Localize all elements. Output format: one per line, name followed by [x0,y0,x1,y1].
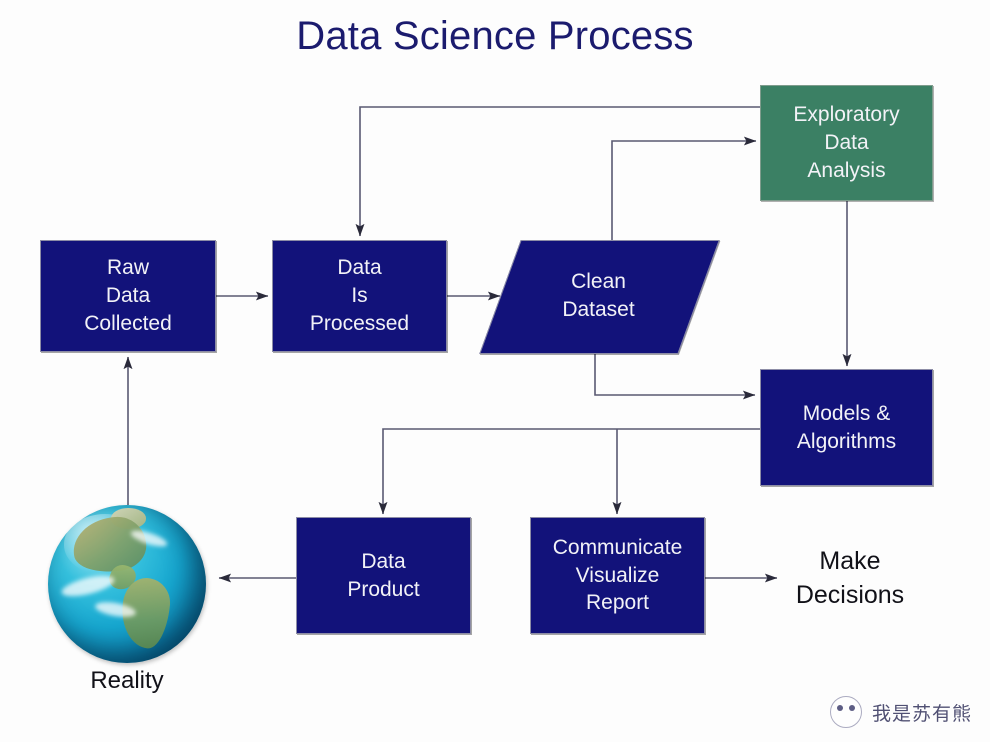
edge-clean-to-eda [612,141,756,240]
node-models-and-algorithms[interactable]: Models & Algorithms [760,369,933,486]
node-make-decisions: Make Decisions [760,545,940,613]
watermark: 我是苏有熊 [830,696,972,728]
node-exploratory-data-analysis-label: Exploratory Data Analysis [793,101,899,184]
node-models-and-algorithms-label: Models & Algorithms [797,400,896,455]
globe-cloud [60,571,116,599]
node-communicate-visualize-report[interactable]: Communicate Visualize Report [530,517,705,634]
node-communicate-visualize-report-label: Communicate Visualize Report [553,534,683,617]
reality-label: Reality [48,667,206,695]
node-data-product-label: Data Product [347,548,419,603]
node-exploratory-data-analysis[interactable]: Exploratory Data Analysis [760,85,933,201]
reality-globe-group: Reality [48,505,206,701]
bear-face-logo-icon [830,696,862,728]
node-raw-data-collected[interactable]: Raw Data Collected [40,240,216,352]
node-data-is-processed-label: Data Is Processed [310,254,409,337]
edge-eda-to-processed [360,107,760,236]
edge-clean-to-models [595,352,755,395]
watermark-text: 我是苏有熊 [872,699,972,726]
node-clean-dataset-label: Clean Dataset [562,268,634,323]
node-data-is-processed[interactable]: Data Is Processed [272,240,447,352]
node-clean-dataset[interactable]: Clean Dataset [500,240,697,352]
node-raw-data-collected-label: Raw Data Collected [84,254,172,337]
diagram-canvas: Data Science Process [0,0,990,742]
earth-globe-icon [48,505,206,663]
edge-models-to-data-product [383,429,760,514]
node-data-product[interactable]: Data Product [296,517,471,634]
